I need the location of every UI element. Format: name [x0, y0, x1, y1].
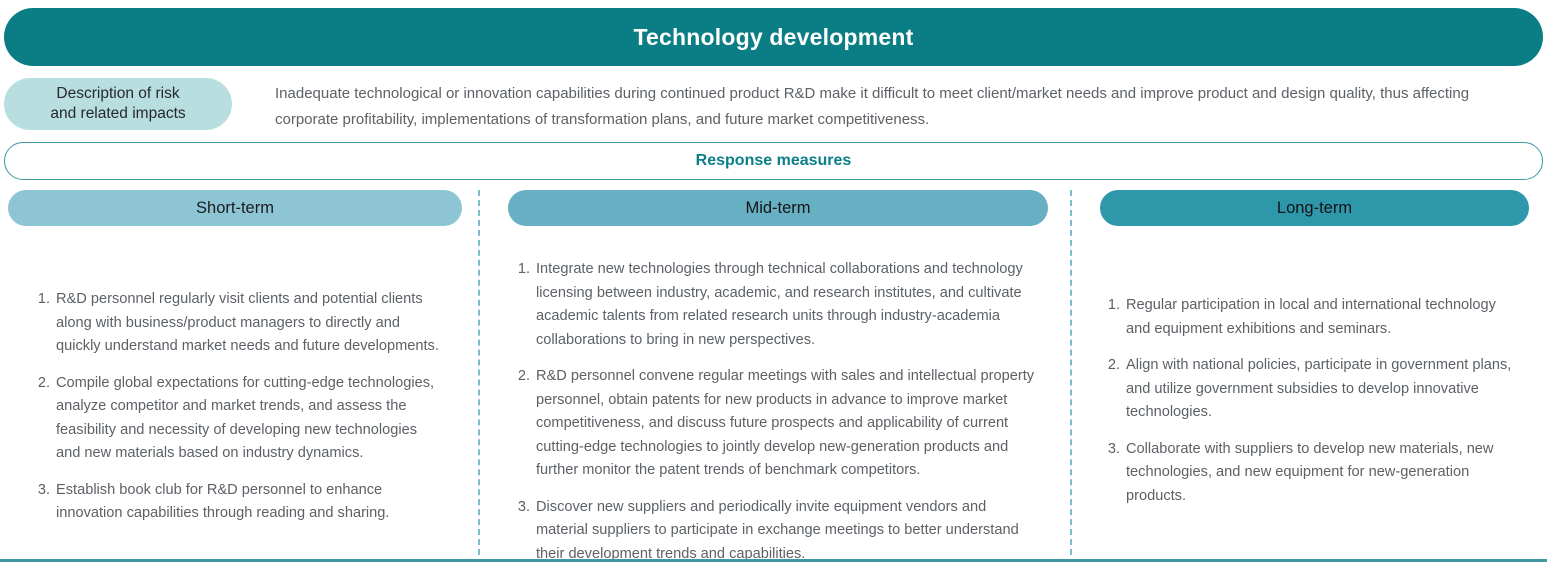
risk-description-label-pill: Description of risk and related impacts: [4, 78, 232, 130]
column-mid-term: Mid-term Integrate new technologies thro…: [478, 190, 1070, 555]
column-header-long-term: Long-term: [1100, 190, 1529, 226]
list-item: R&D personnel convene regular meetings w…: [508, 365, 1036, 483]
risk-pill-line-2: and related impacts: [50, 104, 185, 124]
list-item: Discover new suppliers and periodically …: [508, 496, 1036, 567]
list-item: Compile global expectations for cutting-…: [28, 372, 442, 466]
risk-pill-line-1: Description of risk: [56, 84, 179, 104]
list-item: R&D personnel regularly visit clients an…: [28, 288, 442, 359]
column-short-term: Short-term R&D personnel regularly visit…: [0, 190, 478, 555]
column-long-term: Long-term Regular participation in local…: [1070, 190, 1547, 555]
risk-description-row: Description of risk and related impacts …: [4, 78, 1543, 134]
response-measures-label: Response measures: [696, 152, 852, 170]
measure-list-long-term: Regular participation in local and inter…: [1084, 294, 1539, 508]
response-measures-bar: Response measures: [4, 142, 1543, 180]
page-title-bar: Technology development: [4, 8, 1543, 66]
list-item: Integrate new technologies through techn…: [508, 258, 1036, 352]
list-item: Establish book club for R&D personnel to…: [28, 479, 442, 526]
bottom-divider: [0, 559, 1547, 562]
list-item: Align with national policies, participat…: [1098, 354, 1523, 425]
column-header-mid-term: Mid-term: [508, 190, 1048, 226]
risk-description-text: Inadequate technological or innovation c…: [275, 81, 1520, 133]
list-item: Regular participation in local and inter…: [1098, 294, 1523, 341]
column-header-label: Short-term: [196, 199, 274, 218]
column-header-label: Long-term: [1277, 199, 1352, 218]
column-header-label: Mid-term: [745, 199, 810, 218]
response-columns: Short-term R&D personnel regularly visit…: [0, 190, 1547, 555]
column-header-short-term: Short-term: [8, 190, 462, 226]
measure-list-short-term: R&D personnel regularly visit clients an…: [4, 288, 472, 526]
page-title: Technology development: [633, 24, 913, 51]
measure-list-mid-term: Integrate new technologies through techn…: [496, 258, 1054, 566]
list-item: Collaborate with suppliers to develop ne…: [1098, 438, 1523, 509]
